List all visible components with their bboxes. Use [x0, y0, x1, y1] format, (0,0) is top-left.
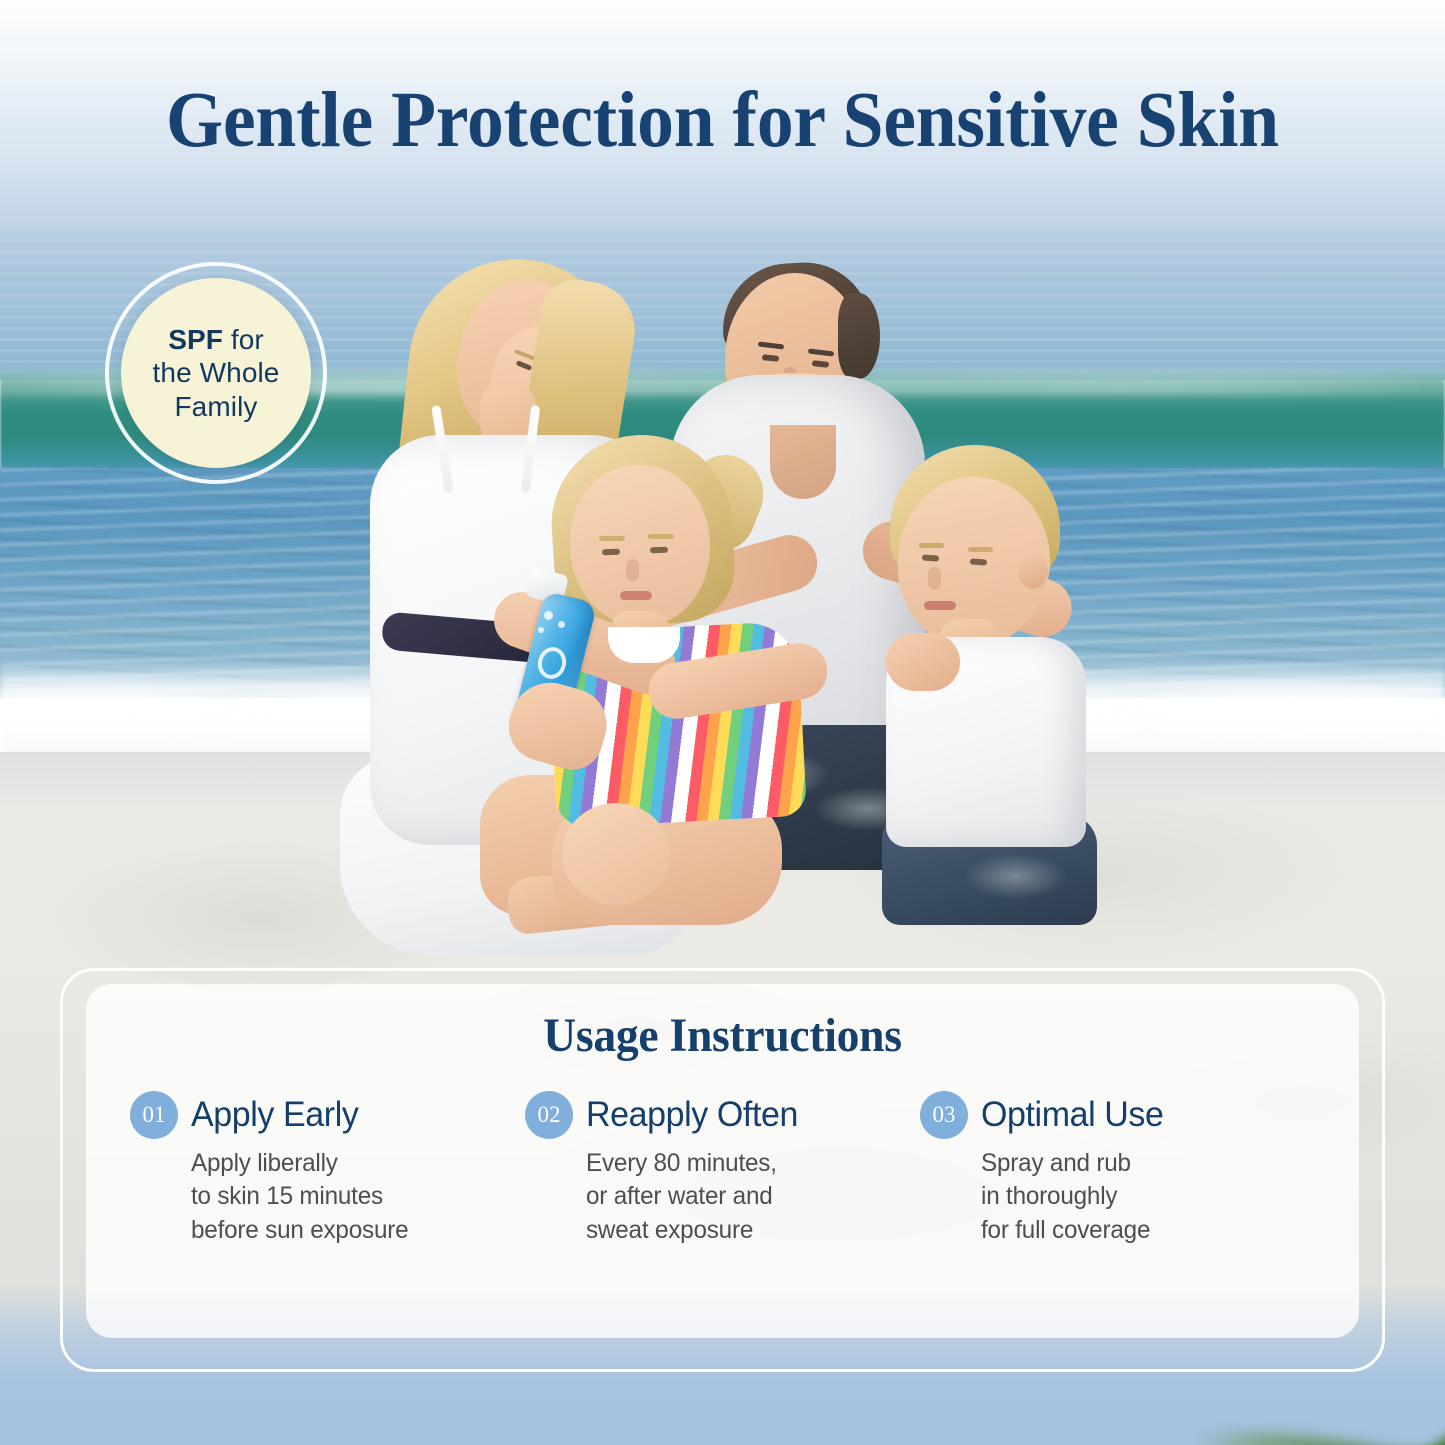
usage-step-1-header: 01 Apply Early	[130, 1091, 511, 1139]
father-collar-opening	[770, 425, 836, 499]
usage-instructions-card: Usage Instructions 01 Apply Early Apply …	[86, 984, 1359, 1338]
spf-badge-line2: the Whole	[153, 357, 280, 388]
son-mouth	[924, 601, 956, 610]
son-eye	[970, 558, 987, 565]
son-shoulder	[886, 633, 960, 691]
son-eye	[922, 554, 939, 561]
daughter-knee	[562, 803, 670, 905]
usage-step-3-body: Spray and rub in thoroughly for full cov…	[981, 1147, 1291, 1247]
son-ear	[1018, 551, 1048, 589]
son-eyebrow	[919, 543, 944, 548]
usage-step-1-line-2: to skin 15 minutes	[191, 1180, 501, 1213]
usage-step-1: 01 Apply Early Apply liberally to skin 1…	[130, 1091, 525, 1247]
usage-step-3-title: Optimal Use	[981, 1095, 1164, 1135]
sunscreen-bottle-bubble-icon	[558, 621, 565, 628]
daughter-eyebrow	[599, 536, 625, 541]
usage-step-3-header: 03 Optimal Use	[920, 1091, 1301, 1139]
usage-step-1-line-1: Apply liberally	[191, 1147, 501, 1180]
son-nose	[928, 567, 941, 590]
spf-badge-line1-rest: for	[223, 324, 264, 355]
usage-step-1-title: Apply Early	[191, 1095, 358, 1135]
sunscreen-bottle-bubble-icon	[544, 611, 553, 620]
usage-step-2-body: Every 80 minutes, or after water and swe…	[586, 1147, 896, 1247]
usage-step-2-line-1: Every 80 minutes,	[586, 1147, 896, 1180]
daughter-eye	[602, 549, 620, 556]
spf-badge: SPF for the Whole Family	[105, 262, 327, 484]
spf-badge-line3: Family	[174, 391, 257, 422]
father-hair-side	[838, 293, 880, 379]
usage-step-3-number-badge: 03	[920, 1091, 968, 1139]
usage-step-3-line-3: for full coverage	[981, 1214, 1291, 1247]
usage-step-1-number-badge: 01	[130, 1091, 178, 1139]
usage-step-2-number-badge: 02	[525, 1091, 573, 1139]
sunscreen-bottle-bubble-icon	[538, 627, 544, 633]
usage-step-2-header: 02 Reapply Often	[525, 1091, 906, 1139]
spf-badge-circle: SPF for the Whole Family	[121, 278, 311, 468]
daughter-collar	[608, 627, 680, 663]
daughter-eyebrow	[648, 534, 674, 539]
usage-step-2-line-3: sweat exposure	[586, 1214, 896, 1247]
usage-step-3-line-1: Spray and rub	[981, 1147, 1291, 1180]
daughter-mouth	[620, 591, 652, 600]
usage-step-2: 02 Reapply Often Every 80 minutes, or af…	[525, 1091, 920, 1247]
page-title: Gentle Protection for Sensitive Skin	[51, 76, 1395, 166]
son-eyebrow	[968, 547, 993, 552]
spf-badge-emphasis: SPF	[168, 324, 223, 355]
usage-steps-list: 01 Apply Early Apply liberally to skin 1…	[86, 1091, 1359, 1247]
usage-step-3: 03 Optimal Use Spray and rub in thorough…	[920, 1091, 1315, 1247]
daughter-eye	[650, 547, 668, 554]
usage-card-title: Usage Instructions	[118, 1008, 1327, 1063]
usage-step-1-body: Apply liberally to skin 15 minutes befor…	[191, 1147, 501, 1247]
spf-badge-text: SPF for the Whole Family	[137, 323, 296, 422]
usage-step-3-line-2: in thoroughly	[981, 1180, 1291, 1213]
usage-step-1-line-3: before sun exposure	[191, 1214, 501, 1247]
sunscreen-product-poster: Gentle Protection for Sensitive Skin SPF…	[0, 0, 1445, 1445]
usage-step-2-title: Reapply Often	[586, 1095, 798, 1135]
daughter-nose	[626, 559, 639, 581]
family-photo	[330, 255, 1120, 885]
usage-step-2-line-2: or after water and	[586, 1180, 896, 1213]
